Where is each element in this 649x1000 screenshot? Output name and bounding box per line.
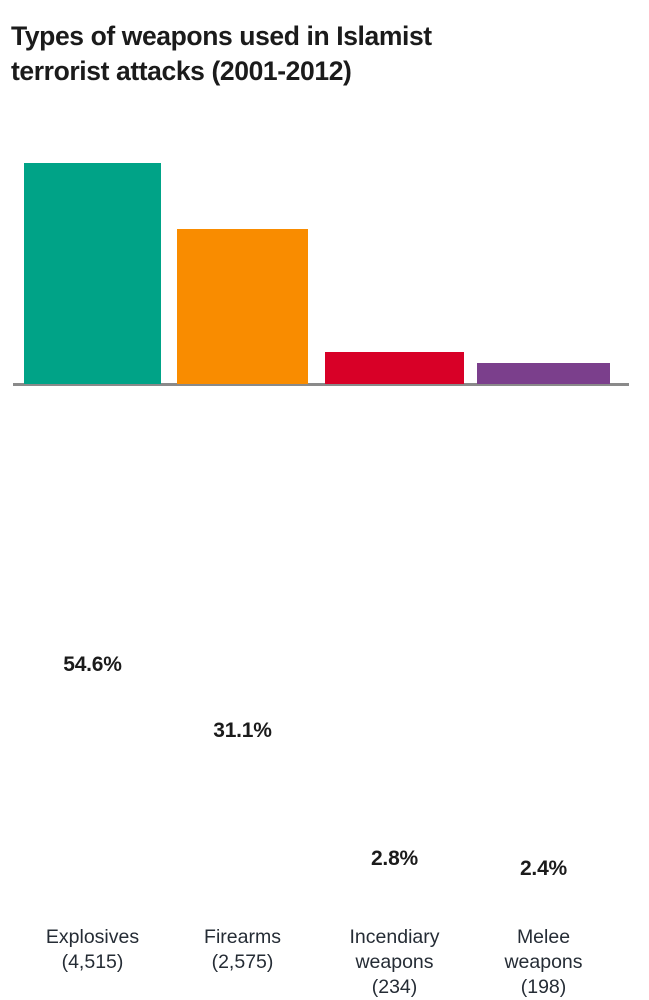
bar-category-name-explosives: Explosives bbox=[46, 926, 139, 948]
bar-category-name-incendiary-2: weapons bbox=[355, 951, 433, 973]
bar-explosives[interactable] bbox=[24, 163, 161, 384]
bar-value-label-firearms: 31.1% bbox=[177, 719, 308, 743]
bar-category-label-melee: Melee weapons (198) bbox=[464, 925, 623, 1000]
bar-count-incendiary: (234) bbox=[372, 976, 418, 998]
bar-firearms[interactable] bbox=[177, 229, 308, 384]
bar-incendiary-weapons[interactable] bbox=[325, 352, 464, 384]
bar-category-label-firearms: Firearms (2,575) bbox=[160, 925, 325, 975]
bar-count-melee: (198) bbox=[521, 976, 567, 998]
bar-count-explosives: (4,515) bbox=[62, 951, 124, 973]
bar-category-name-incendiary-1: Incendiary bbox=[350, 926, 440, 948]
bar-value-label-melee: 2.4% bbox=[477, 857, 610, 881]
bar-category-name-melee-1: Melee bbox=[517, 926, 570, 948]
bar-chart-figure: Types of weapons used in Islamist terror… bbox=[0, 0, 649, 529]
bar-melee-weapons[interactable] bbox=[477, 363, 610, 384]
bar-category-label-incendiary: Incendiary weapons (234) bbox=[315, 925, 474, 1000]
bar-category-label-explosives: Explosives (4,515) bbox=[6, 925, 179, 975]
plot-area: 54.6% Explosives (4,515) 31.1% Firearms … bbox=[0, 0, 649, 529]
bar-value-label-incendiary: 2.8% bbox=[325, 847, 464, 871]
bar-value-label-explosives: 54.6% bbox=[24, 653, 161, 677]
bar-category-name-melee-2: weapons bbox=[504, 951, 582, 973]
bar-category-name-firearms: Firearms bbox=[204, 926, 281, 948]
bar-count-firearms: (2,575) bbox=[212, 951, 274, 973]
